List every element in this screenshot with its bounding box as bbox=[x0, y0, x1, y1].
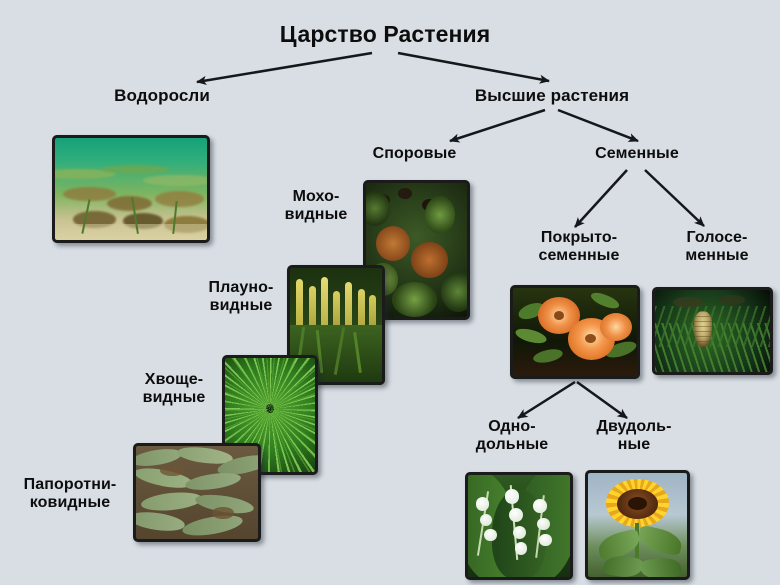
node-label-higher-plants: Высшие растения bbox=[443, 86, 661, 105]
node-label-angiosperms: Покрыто- семенные bbox=[518, 229, 640, 265]
conifer-cone-photo bbox=[652, 287, 773, 375]
node-label-ferns: Папоротни- ковидные bbox=[4, 476, 136, 512]
lily-of-the-valley-photo bbox=[465, 472, 573, 580]
node-label-lycophytes: Плауно- видные bbox=[191, 279, 291, 315]
underwater-algae-photo bbox=[52, 135, 210, 243]
node-label-monocots: Одно- дольные bbox=[456, 418, 568, 454]
arrow-higher-to-seed bbox=[558, 110, 638, 141]
node-label-algae: Водоросли bbox=[82, 86, 242, 105]
arrow-root-to-higher bbox=[398, 53, 549, 81]
arrow-angiosperms-to-monocots bbox=[518, 382, 575, 418]
node-label-gymnosperms: Голосе- менные bbox=[660, 229, 774, 265]
arrow-seed-to-angiosperms bbox=[575, 170, 627, 227]
node-label-bryophytes: Мохо- видные bbox=[266, 188, 366, 224]
arrow-higher-to-spore bbox=[450, 110, 545, 141]
plant-kingdom-diagram: Царство Растения Водоросли Высшие растен… bbox=[0, 0, 780, 585]
node-label-horsetails: Хвоще- видные bbox=[124, 371, 224, 407]
arrow-root-to-algae bbox=[197, 53, 372, 82]
fern-photo bbox=[133, 443, 261, 542]
node-label-dicots: Двудоль- ные bbox=[578, 418, 690, 454]
node-label-seed: Семенные bbox=[578, 145, 696, 163]
node-label-root: Царство Растения bbox=[240, 22, 530, 48]
sunflower-photo bbox=[585, 470, 690, 580]
orange-flowers-photo bbox=[510, 285, 640, 379]
arrow-seed-to-gymnosperms bbox=[645, 170, 704, 226]
node-label-spore: Споровые bbox=[357, 145, 472, 163]
arrow-angiosperms-to-dicots bbox=[577, 382, 627, 418]
